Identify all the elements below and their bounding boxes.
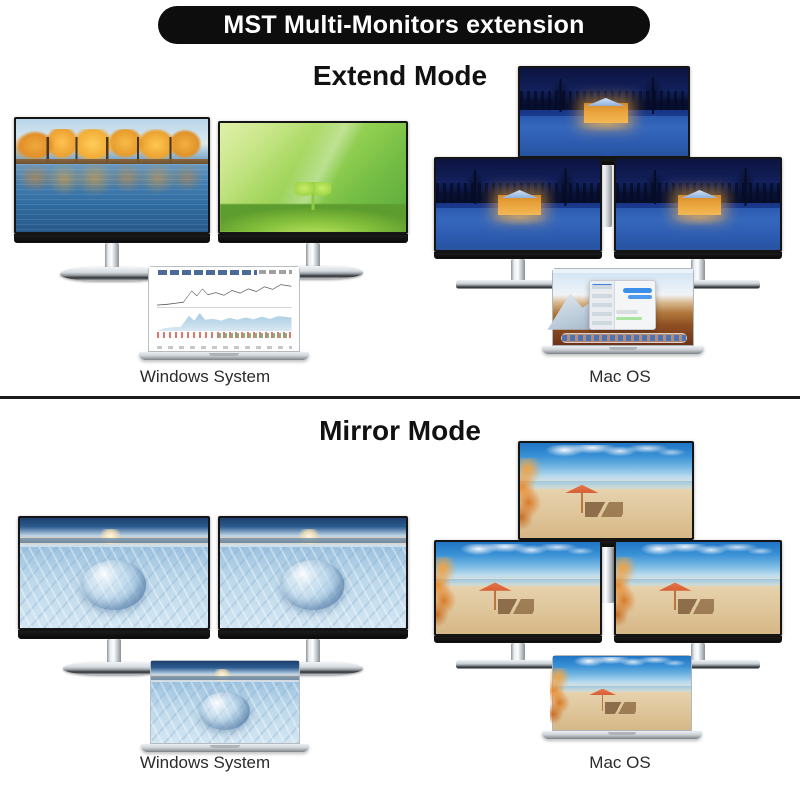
monitor-chin xyxy=(614,636,782,643)
monitor-chin xyxy=(218,630,408,639)
title-text: MST Multi-Monitors extension xyxy=(223,11,584,40)
wallpaper-beach-umbrella xyxy=(436,542,600,634)
wallpaper-winter-cabin xyxy=(436,159,600,250)
wallpaper-ice-sphere xyxy=(20,518,208,628)
section-divider xyxy=(0,396,800,399)
monitor-bezel xyxy=(14,117,210,234)
mirror-mac-caption: Mac OS xyxy=(510,753,730,773)
wallpaper-ice-sphere xyxy=(220,518,406,628)
monitor-screen xyxy=(436,542,600,634)
monitor-bezel xyxy=(218,121,408,234)
laptop-lid xyxy=(148,266,300,352)
wallpaper-ice-sphere xyxy=(154,664,296,739)
monitor-chin xyxy=(434,636,602,643)
laptop-screen xyxy=(556,272,690,341)
laptop-trackpad-notch xyxy=(209,353,239,356)
monitor-screen xyxy=(220,518,406,628)
monitor-chin xyxy=(18,630,210,639)
mirror-windows-caption: Windows System xyxy=(60,753,350,773)
monitor-bezel xyxy=(518,441,694,540)
extend-mac-caption: Mac OS xyxy=(510,367,730,387)
monitor-bezel xyxy=(434,157,602,252)
wallpaper-beach-umbrella xyxy=(520,443,692,538)
wallpaper-autumn-lake xyxy=(16,119,208,232)
monitor-bezel xyxy=(614,157,782,252)
laptop-screen xyxy=(154,664,296,739)
monitor-screen xyxy=(520,68,688,156)
laptop-lid xyxy=(552,268,694,346)
monitor-chin xyxy=(614,252,782,259)
monitor-screen xyxy=(616,542,780,634)
wallpaper-macos-desktop xyxy=(556,272,690,341)
monitor-screen xyxy=(16,119,208,232)
laptop-screen xyxy=(556,659,688,726)
laptop-screen xyxy=(152,270,296,347)
monitor-screen xyxy=(616,159,780,250)
monitor-screen xyxy=(220,123,406,232)
wallpaper-beach-umbrella xyxy=(556,659,688,726)
wallpaper-beach-umbrella xyxy=(616,542,780,634)
wallpaper-stock-charts xyxy=(152,270,296,347)
wallpaper-winter-cabin xyxy=(616,159,780,250)
monitor-screen xyxy=(520,443,692,538)
monitor-bezel xyxy=(434,540,602,636)
monitor-screen xyxy=(436,159,600,250)
extend-windows-caption: Windows System xyxy=(60,367,350,387)
monitor-screen xyxy=(20,518,208,628)
monitor-neck xyxy=(511,259,525,281)
laptop-lid xyxy=(552,655,692,731)
wallpaper-green-sprout xyxy=(220,123,406,232)
title-banner: MST Multi-Monitors extension xyxy=(158,6,650,44)
poster-root: MST Multi-Monitors extension Extend Mode xyxy=(0,0,800,800)
messages-window xyxy=(589,280,655,331)
laptop-lid xyxy=(150,660,300,744)
monitor-bezel xyxy=(18,516,210,630)
laptop-trackpad-notch xyxy=(210,745,240,748)
macos-dock xyxy=(561,333,686,341)
monitor-chin xyxy=(14,234,210,243)
monitor-bezel xyxy=(218,516,408,630)
monitor-bezel xyxy=(614,540,782,636)
laptop-trackpad-notch xyxy=(608,732,636,735)
laptop-trackpad-notch xyxy=(609,347,637,350)
monitor-chin xyxy=(218,234,408,243)
monitor-bezel xyxy=(518,66,690,158)
wallpaper-winter-cabin xyxy=(520,68,688,156)
monitor-chin xyxy=(434,252,602,259)
